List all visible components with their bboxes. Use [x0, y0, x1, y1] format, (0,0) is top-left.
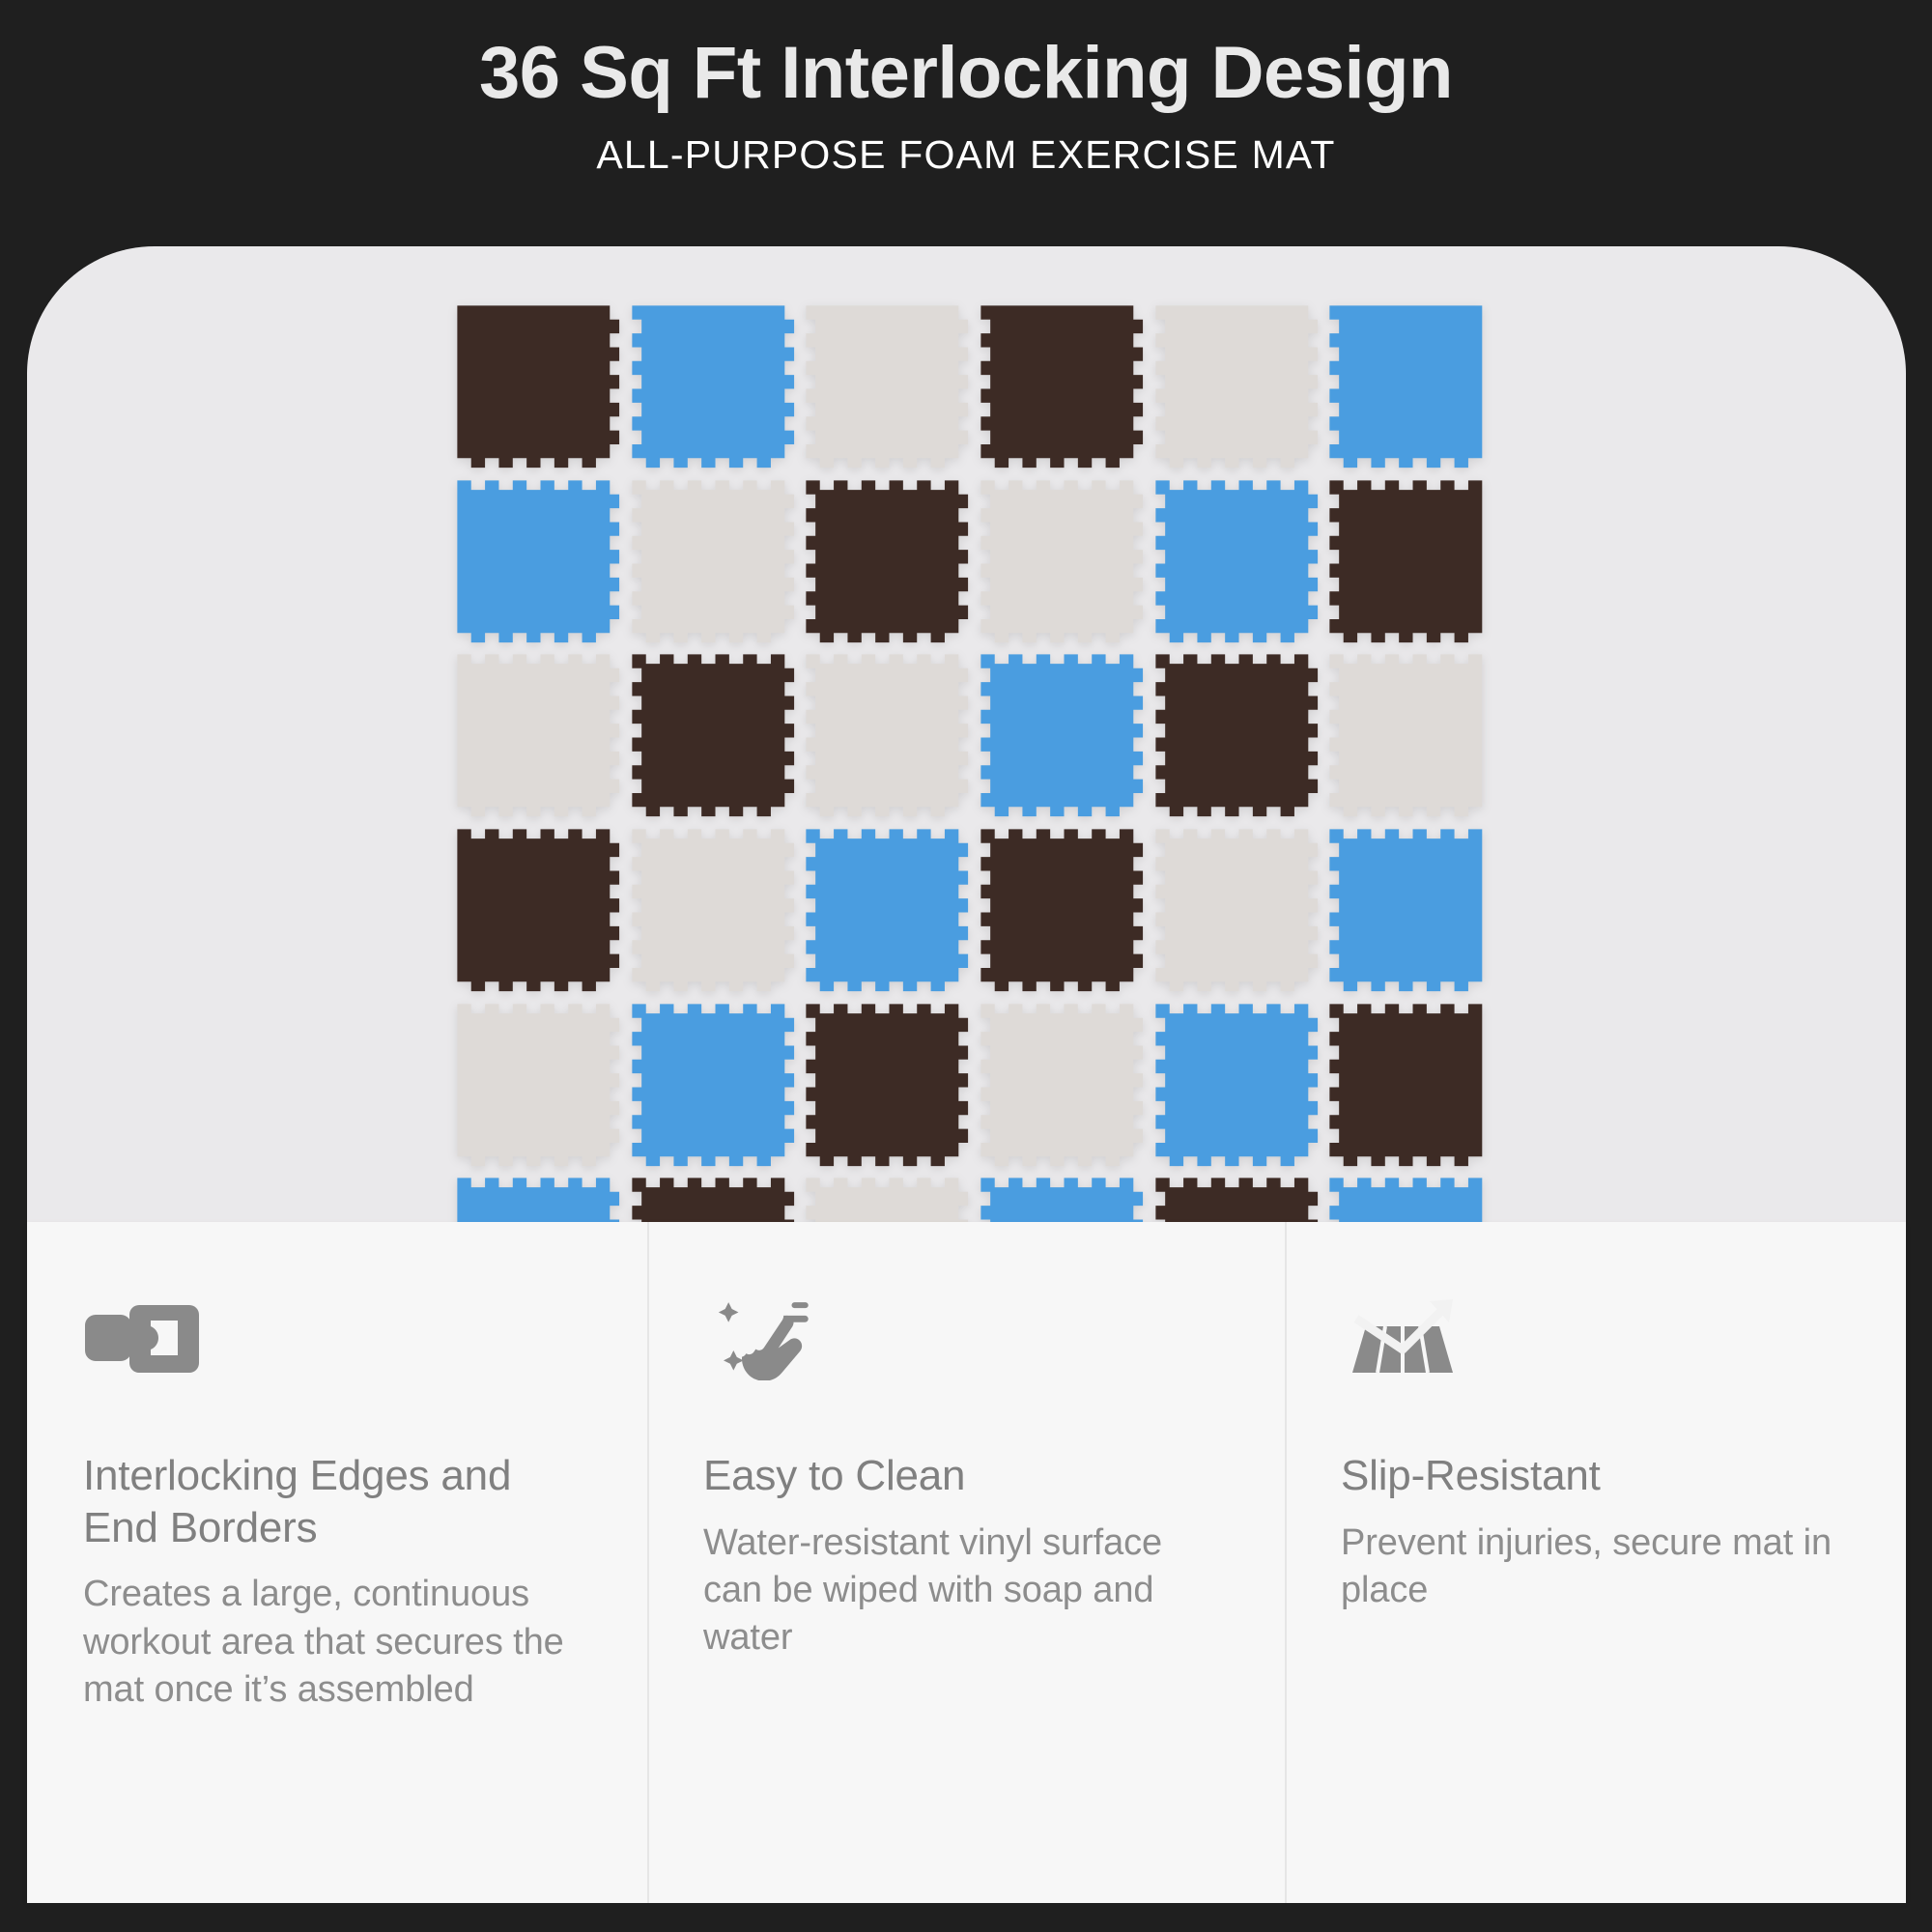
- mat-tile-gray: [795, 295, 970, 469]
- mat-tile-blue: [970, 643, 1145, 818]
- header-banner: 36 Sq Ft Interlocking Design ALL-PURPOSE…: [0, 0, 1932, 253]
- interlocking-puzzle-icon: [83, 1297, 591, 1380]
- mat-tile-blue: [1145, 469, 1320, 644]
- feature-card-easy-to-clean: Easy to Clean Water-resistant vinyl surf…: [647, 1222, 1285, 1903]
- mat-tile-brown: [970, 818, 1145, 993]
- feature-description: Prevent injuries, secure mat in place: [1341, 1520, 1850, 1615]
- mat-tile-blue: [1319, 818, 1493, 993]
- feature-title: Interlocking Edges and End Borders: [83, 1450, 591, 1553]
- feature-card-slip-resistant: Slip-Resistant Prevent injuries, secure …: [1285, 1222, 1906, 1903]
- mat-tile-gray: [621, 818, 796, 993]
- mat-tile-brown: [446, 818, 621, 993]
- mat-tile-brown: [621, 643, 796, 818]
- mat-tile-brown: [446, 295, 621, 469]
- foam-mat-grid: [446, 295, 1493, 1257]
- mat-tile-gray: [446, 643, 621, 818]
- mat-tile-gray: [1145, 295, 1320, 469]
- mat-tile-gray: [795, 643, 970, 818]
- mat-tile-blue: [621, 993, 796, 1168]
- mat-tile-brown: [1319, 993, 1493, 1168]
- mat-tile-blue: [1319, 295, 1493, 469]
- mat-tile-brown: [795, 469, 970, 644]
- mat-tile-gray: [970, 993, 1145, 1168]
- mat-tile-gray: [1319, 643, 1493, 818]
- mat-tile-brown: [970, 295, 1145, 469]
- mat-tile-gray: [621, 469, 796, 644]
- feature-card-interlocking-edges: Interlocking Edges and End Borders Creat…: [27, 1222, 647, 1903]
- mat-tile-brown: [1145, 643, 1320, 818]
- mat-tile-brown: [1319, 469, 1493, 644]
- mat-arrow-grip-icon: [1341, 1297, 1850, 1380]
- page-subtitle: ALL-PURPOSE FOAM EXERCISE MAT: [0, 110, 1932, 175]
- wiping-hand-sparkle-icon: [703, 1297, 1229, 1380]
- feature-description: Creates a large, continuous workout area…: [83, 1571, 591, 1714]
- feature-cards: Interlocking Edges and End Borders Creat…: [27, 1222, 1906, 1903]
- product-image: [446, 295, 1493, 1257]
- feature-title: Slip-Resistant: [1341, 1450, 1850, 1502]
- mat-tile-blue: [1145, 993, 1320, 1168]
- feature-description: Water-resistant vinyl surface can be wip…: [703, 1520, 1229, 1662]
- mat-tile-gray: [1145, 818, 1320, 993]
- page-title: 36 Sq Ft Interlocking Design: [0, 0, 1932, 110]
- mat-tile-blue: [795, 818, 970, 993]
- mat-tile-gray: [446, 993, 621, 1168]
- mat-tile-gray: [970, 469, 1145, 644]
- feature-title: Easy to Clean: [703, 1450, 1229, 1502]
- mat-tile-blue: [621, 295, 796, 469]
- mat-tile-brown: [795, 993, 970, 1168]
- mat-tile-blue: [446, 469, 621, 644]
